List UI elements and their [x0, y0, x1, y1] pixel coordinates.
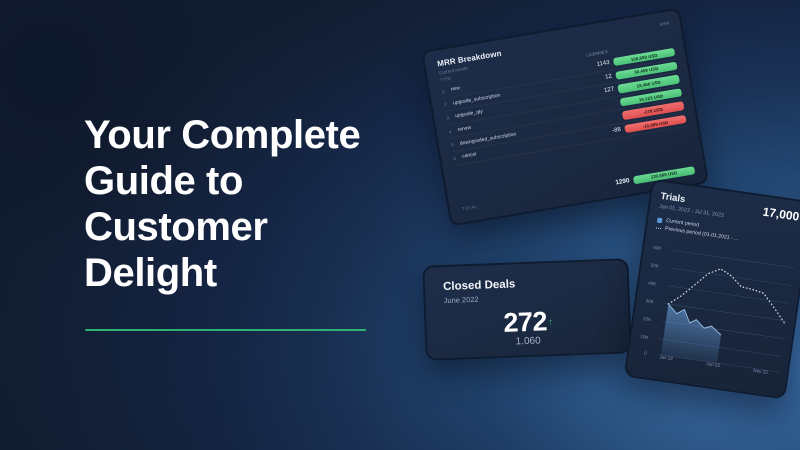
y-axis-tick: 20K	[643, 316, 652, 322]
y-axis-tick: 0	[644, 350, 647, 355]
headline-line-2: Guide to	[84, 158, 414, 204]
card-surface: 17,000 Trials Jan 01, 2022 - Jul 31, 202…	[624, 178, 800, 399]
y-axis-tick: 10K	[640, 334, 649, 340]
page-title: Your Complete Guide to Customer Delight	[84, 112, 414, 296]
row-licenses: -88	[581, 126, 625, 139]
trials-chart-svg	[637, 243, 796, 380]
row-licenses	[577, 103, 620, 110]
current-period-area	[661, 304, 724, 363]
card-surface: Closed Deals June 2022 272↑ 1.060	[422, 258, 631, 360]
deals-value-number: 272	[503, 306, 548, 338]
total-licenses: 1290	[590, 177, 635, 191]
legend-dotted-line-icon	[656, 227, 661, 229]
slide-canvas: Your Complete Guide to Customer Delight …	[0, 0, 800, 450]
deals-card-period: June 2022	[443, 290, 609, 305]
deals-metric-value: 272↑	[444, 304, 611, 340]
closed-deals-card[interactable]: Closed Deals June 2022 272↑ 1.060	[422, 258, 631, 360]
trials-plot-area: 60K 50K 40K 30K 20K 10K 0 Jan 22 Jun 22 …	[637, 243, 796, 380]
total-label: TOTAL	[462, 185, 591, 212]
row-licenses	[579, 116, 622, 123]
headline-line-4: Delight	[84, 250, 414, 296]
headline-line-1: Your Complete	[84, 112, 414, 158]
y-axis-tick: 30K	[645, 298, 654, 304]
accent-divider	[85, 329, 366, 331]
y-axis-tick: 40K	[648, 281, 657, 287]
headline-line-3: Customer	[84, 204, 414, 250]
arrow-up-icon: ↑	[548, 317, 553, 328]
y-axis-tick: 50K	[650, 263, 659, 269]
trials-chart-card[interactable]: 17,000 Trials Jan 01, 2022 - Jul 31, 202…	[624, 178, 800, 399]
legend-swatch-icon	[657, 217, 663, 223]
y-axis-tick: 60K	[653, 245, 662, 251]
